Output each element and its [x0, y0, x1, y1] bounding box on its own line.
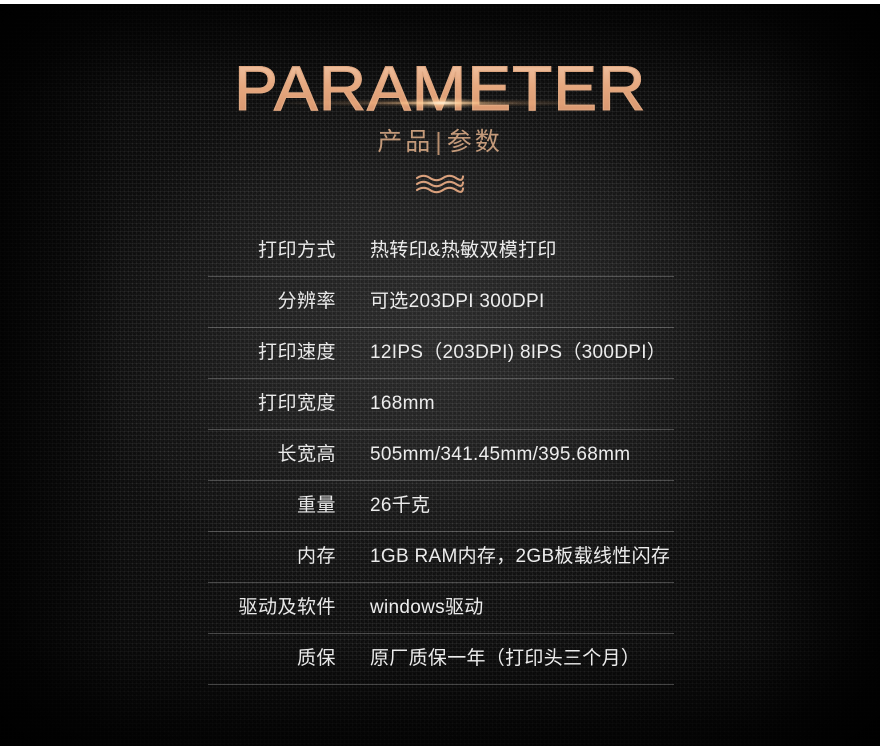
- spec-label: 内存: [208, 545, 336, 569]
- table-row: 驱动及软件 windows驱动: [208, 583, 674, 634]
- spec-label: 驱动及软件: [208, 596, 336, 620]
- spec-label: 重量: [208, 494, 336, 518]
- spec-value: 1GB RAM内存，2GB板载线性闪存: [336, 545, 674, 569]
- table-row: 打印速度 12IPS（203DPI) 8IPS（300DPI）: [208, 328, 674, 379]
- table-row: 内存 1GB RAM内存，2GB板载线性闪存: [208, 532, 674, 583]
- spec-value: 26千克: [336, 494, 674, 518]
- spec-value: 505mm/341.45mm/395.68mm: [336, 443, 674, 467]
- spec-value: 热转印&热敏双模打印: [336, 239, 674, 263]
- spec-label: 打印方式: [208, 239, 336, 263]
- spec-label: 打印速度: [208, 341, 336, 365]
- bottom-white-margin: [0, 746, 880, 751]
- table-row: 重量 26千克: [208, 481, 674, 532]
- page-subtitle: 产品|参数: [0, 126, 880, 158]
- spec-value: windows驱动: [336, 596, 674, 620]
- spec-value: 原厂质保一年（打印头三个月）: [336, 647, 674, 671]
- subtitle-right-text: 参数: [447, 128, 503, 156]
- subtitle-divider: |: [435, 126, 445, 158]
- spec-label: 质保: [208, 647, 336, 671]
- dark-textured-panel: PARAMETER 产品|参数: [0, 4, 880, 746]
- table-row: 质保 原厂质保一年（打印头三个月）: [208, 634, 674, 685]
- panel-content: PARAMETER 产品|参数: [0, 4, 880, 746]
- spec-value: 12IPS（203DPI) 8IPS（300DPI）: [336, 341, 674, 365]
- table-row: 长宽高 505mm/341.45mm/395.68mm: [208, 430, 674, 481]
- parameter-spec-page: PARAMETER 产品|参数: [0, 0, 880, 751]
- page-title: PARAMETER: [234, 56, 646, 122]
- title-wrapper: PARAMETER: [0, 56, 880, 124]
- spec-value: 168mm: [336, 392, 674, 416]
- spec-label: 打印宽度: [208, 392, 336, 416]
- spec-label: 分辨率: [208, 290, 336, 314]
- spec-value: 可选203DPI 300DPI: [336, 290, 674, 314]
- wave-ornament-icon: [0, 173, 880, 197]
- subtitle-left-text: 产品: [377, 128, 433, 156]
- table-row: 打印方式 热转印&热敏双模打印: [208, 226, 674, 277]
- table-row: 打印宽度 168mm: [208, 379, 674, 430]
- spec-table: 打印方式 热转印&热敏双模打印 分辨率 可选203DPI 300DPI 打印速度…: [208, 226, 674, 685]
- table-row: 分辨率 可选203DPI 300DPI: [208, 277, 674, 328]
- spec-label: 长宽高: [208, 443, 336, 467]
